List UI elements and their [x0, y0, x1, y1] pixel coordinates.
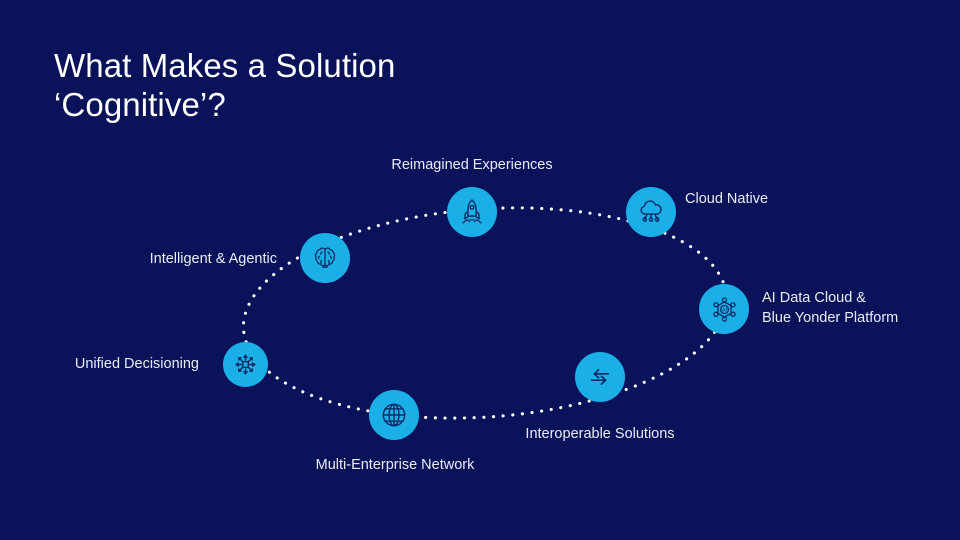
cognitive-solution-cycle-diagram: Reimagined Experiences Cloud Native: [0, 0, 960, 540]
node-multi-enterprise-network[interactable]: [369, 390, 419, 440]
label-unified-decisioning: Unified Decisioning: [0, 354, 199, 374]
exchange-arrows-icon: [585, 362, 615, 392]
label-line: Interoperable Solutions: [400, 424, 800, 444]
ai-node-network-icon: AI: [709, 294, 740, 325]
label-line: Unified Decisioning: [0, 354, 199, 374]
label-ai-data-cloud: AI Data Cloud & Blue Yonder Platform: [762, 288, 898, 328]
node-intelligent-agentic[interactable]: [300, 233, 350, 283]
node-interoperable-solutions[interactable]: [575, 352, 625, 402]
label-intelligent-agentic: Intelligent & Agentic: [0, 249, 277, 269]
label-line: Cloud Native: [685, 189, 768, 209]
label-reimagined-experiences: Reimagined Experiences: [272, 155, 672, 175]
label-interoperable-solutions: Interoperable Solutions: [400, 424, 800, 444]
slide-canvas: What Makes a Solution ‘Cognitive’?: [0, 0, 960, 540]
converging-arrows-icon: [231, 350, 260, 379]
label-line: AI Data Cloud &: [762, 288, 898, 308]
node-cloud-native[interactable]: [626, 187, 676, 237]
label-cloud-native: Cloud Native: [685, 189, 768, 209]
node-ai-data-cloud[interactable]: AI: [699, 284, 749, 334]
label-line: Intelligent & Agentic: [0, 249, 277, 269]
label-line: Multi-Enterprise Network: [195, 455, 595, 475]
label-line: Blue Yonder Platform: [762, 308, 898, 328]
globe-icon: [379, 400, 409, 430]
node-reimagined-experiences[interactable]: [447, 187, 497, 237]
svg-text:AI: AI: [722, 307, 727, 313]
brain-icon: [310, 243, 340, 273]
cloud-network-icon: [636, 197, 666, 227]
rocket-icon: [457, 197, 487, 227]
label-line: Reimagined Experiences: [272, 155, 672, 175]
label-multi-enterprise-network: Multi-Enterprise Network: [195, 455, 595, 475]
node-unified-decisioning[interactable]: [223, 342, 268, 387]
